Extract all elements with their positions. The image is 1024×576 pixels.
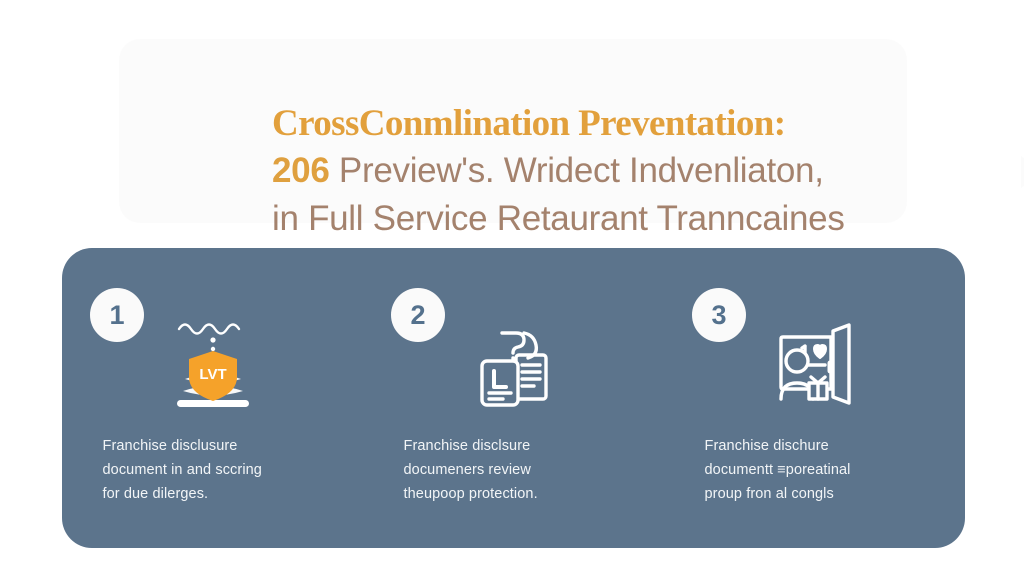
caption-3-line-1: Franchise dischure xyxy=(705,434,931,458)
title-line-2-rest: Preview's. Wridect Indvenliaton, xyxy=(330,151,824,190)
header-card: CrossConmlination Preventation: 206 Prev… xyxy=(120,40,906,222)
steps-panel: 1 xyxy=(62,248,965,548)
step-badge-1: 1 xyxy=(90,288,144,342)
caption-1-line-1: Franchise disclusure xyxy=(103,434,329,458)
title-line-3: in Full Service Retaurant Tranncaines xyxy=(272,195,1002,242)
caption-3-line-2: documentt ≡poreatinal xyxy=(705,458,931,482)
steps-columns: 1 xyxy=(62,248,965,548)
step-column-1: 1 xyxy=(62,248,363,548)
caption-3-line-3: proup fron al congls xyxy=(705,482,931,506)
step-badge-3: 3 xyxy=(692,288,746,342)
step-column-3: 3 xyxy=(664,248,965,548)
caption-2-line-3: theupoop protection. xyxy=(404,482,630,506)
step-column-2: 2 xyxy=(363,248,664,548)
person-open-door-heart-icon xyxy=(755,306,875,424)
step-badge-2: 2 xyxy=(391,288,445,342)
infographic-canvas: CrossConmlination Preventation: 206 Prev… xyxy=(0,0,1024,576)
step-caption-1: Franchise disclusure document in and scc… xyxy=(97,434,329,506)
step-caption-3: Franchise dischure documentt ≡poreatinal… xyxy=(699,434,931,506)
caption-1-line-3: for due dilerges. xyxy=(103,482,329,506)
step-caption-2: Franchise disclsure documeners review th… xyxy=(398,434,630,506)
title-line-2: 206 Preview's. Wridect Indvenliaton, xyxy=(272,146,1002,195)
documents-review-icon xyxy=(454,306,574,424)
caption-2-line-1: Franchise disclsure xyxy=(404,434,630,458)
title-line-1: CrossConmlination Preventation: xyxy=(272,102,1002,146)
shield-letters: LVT xyxy=(199,366,226,383)
caption-2-line-2: documeners review xyxy=(404,458,630,482)
title-number: 206 xyxy=(272,151,330,190)
shield-over-food-stack-icon: LVT xyxy=(153,306,273,424)
caption-1-line-2: document in and sccring xyxy=(103,458,329,482)
page-title: CrossConmlination Preventation: 206 Prev… xyxy=(272,102,1002,242)
